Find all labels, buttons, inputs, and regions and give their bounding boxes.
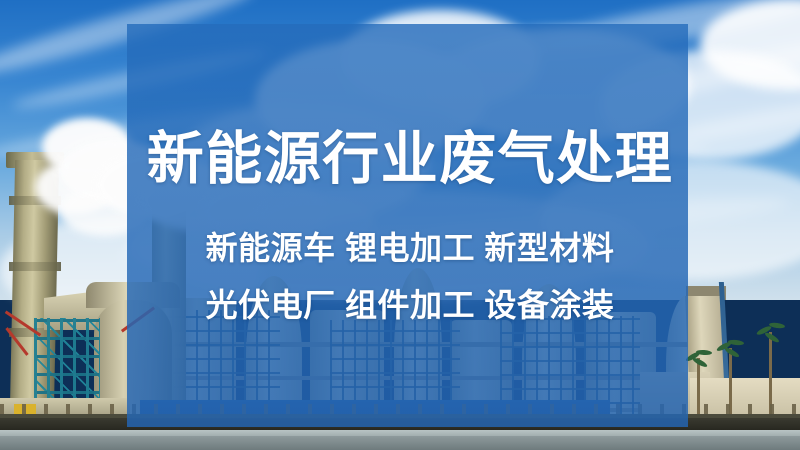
banner-text-layer: 新能源行业废气处理 新能源车 锂电加工 新型材料 光伏电厂 组件加工 设备涂装	[127, 24, 688, 427]
subtitle-line-2: 光伏电厂 组件加工 设备涂装	[145, 287, 675, 323]
shoreline	[0, 436, 800, 450]
page-title: 新能源行业废气处理	[145, 128, 675, 190]
smokestack-band	[9, 262, 61, 271]
subtitle-line-1: 新能源车 锂电加工 新型材料	[145, 230, 675, 266]
banner-hero: 新能源行业废气处理 新能源车 锂电加工 新型材料 光伏电厂 组件加工 设备涂装	[0, 0, 800, 450]
